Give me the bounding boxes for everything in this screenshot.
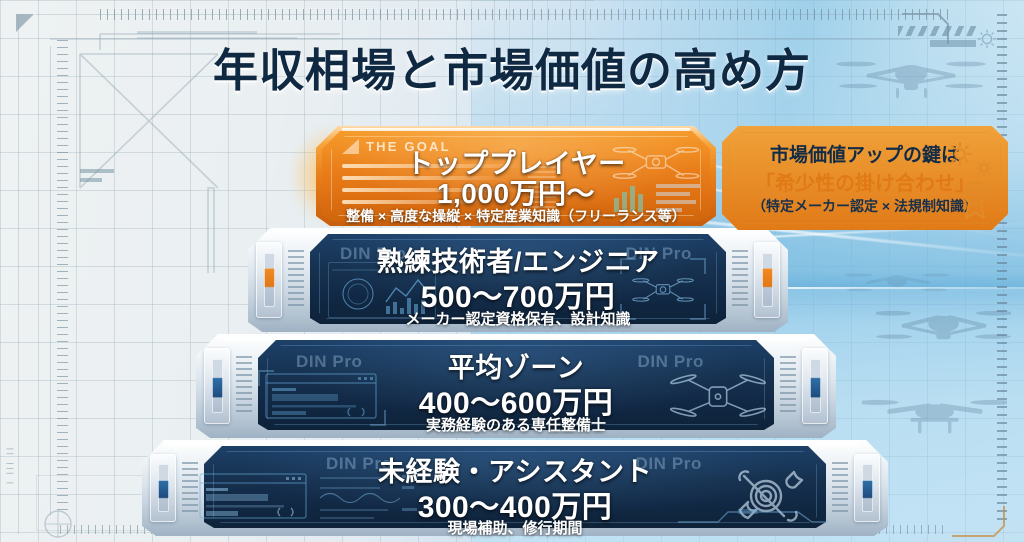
callout-line-2: 「希少性の掛け合わせ」 [734,167,996,196]
callout-line-3: （特定メーカー認定 × 法規制知識） [734,196,996,216]
key-insight-callout: 市場価値アップの鍵は 「希少性の掛け合わせ」 （特定メーカー認定 × 法規制知識… [722,126,1008,230]
tier-subtitle-label: 実務経験のある専任整備士 [196,414,836,435]
tier-assistant[interactable]: DIN Pro DIN Pro [142,440,888,536]
gear-icon [974,158,994,178]
tier-subtitle-label: 現場補助、修行期間 [142,517,888,538]
infographic-stage: || ||| | 年収相場と市場価値の高め方 市場価値アップの鍵は 「希少性の掛… [0,0,1024,542]
tier-senior-engineer[interactable]: DIN Pro DIN Pro [248,228,788,332]
page-title: 年収相場と市場価値の高め方 [0,34,1024,99]
tier-top-player[interactable]: THE GOAL [316,126,716,226]
tier-average-zone[interactable]: DIN Pro DIN Pro [196,334,836,438]
ribbon-seal-icon [958,178,992,220]
tier-subtitle-label: メーカー認定資格保有、設計知識 [248,308,788,329]
gear-icon [946,140,974,168]
tier-subtitle-label: 整備 × 高度な操縦 × 特定産業知識（フリーランス等） [316,206,716,226]
